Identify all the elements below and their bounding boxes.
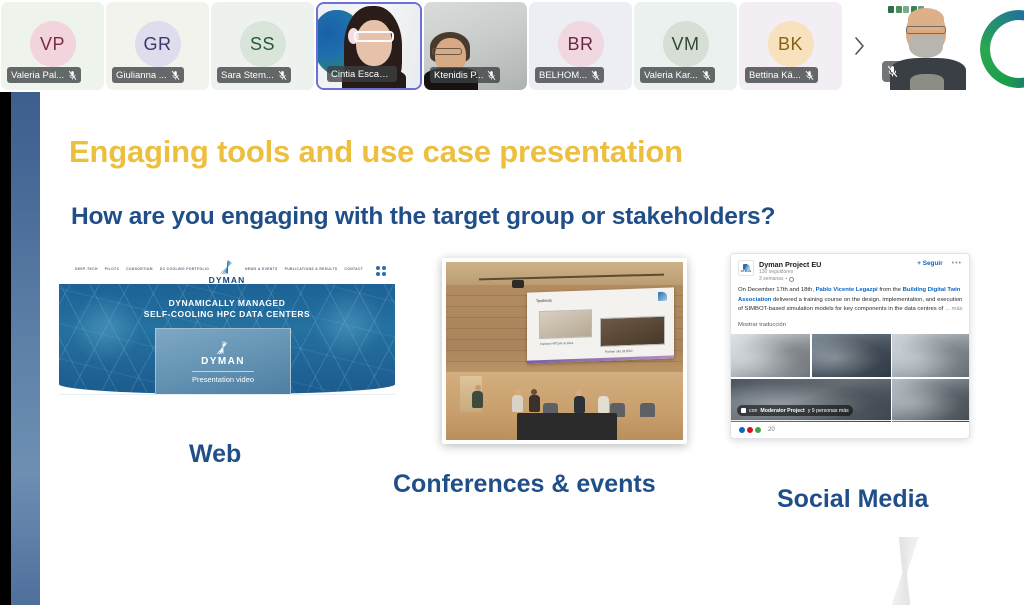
avatar-initials: VP [40,34,65,55]
avatar: SS [240,21,286,67]
nav-item: DEEP-TECH [75,267,98,271]
conference-photo: Testbeds Partner HPC/AI-at sites Partner… [442,258,687,444]
screen-title: Testbeds [535,298,551,304]
nav-item: PUBLICATIONS & RESULTS [285,267,338,271]
caption-web: Web [189,440,241,469]
participant-tile[interactable] [876,2,1024,90]
participant-tile[interactable]: Ktenidis P... [424,2,527,90]
screen-letterbox-left [0,92,11,605]
hero-line-2: SELF-COOLING HPC DATA CENTERS [59,309,395,320]
video-participant-filmstrip: VP Valeria Pal... GR Giulianna ... SS Sa… [0,0,1024,92]
tag-person-icon [741,408,746,413]
nav-item: NEWS & EVENTS [245,267,278,271]
website-footer-strip [59,394,395,410]
microphone-muted-icon [487,70,496,81]
tag-entity[interactable]: Moderator Project [760,408,804,414]
microphone-muted-icon [805,70,814,81]
participant-name-badge: Cintia Escand... [327,66,397,82]
follow-button[interactable]: + Seguir [917,260,942,278]
participant-name: Bettina Kä... [749,70,801,81]
tag-suffix: y 9 personas más [808,408,849,414]
avatar-initials: BK [778,34,803,55]
presentation-slide: Engaging tools and use case presentation… [40,92,1024,605]
microphone-muted-icon [68,70,77,81]
tag-prefix: con [749,408,757,414]
dyman-logo: DYMAN [201,260,253,285]
projection-screen: Testbeds Partner HPC/AI-at sites Partner… [527,288,674,364]
post-reactions-bar[interactable]: 20 [731,420,970,438]
post-header: DYMAN Dyman Project EU 130 seguidores 3 … [731,254,969,284]
participant-name-badge: Giulianna ... [112,67,184,83]
post-image[interactable] [892,379,970,422]
post-photo-tag[interactable]: con Moderator Project y 9 personas más [737,405,853,416]
video-caption: Presentation video [192,371,254,384]
avatar: VP [30,21,76,67]
logo-wordmark: DYMAN [741,270,752,273]
avatar: GR [135,21,181,67]
show-translation-link[interactable]: Mostrar traducción [738,322,786,328]
avatar-initials: BR [567,34,593,55]
screen-caption-right: Partner site @ BSC [604,349,632,354]
microphone-muted-icon [591,70,600,81]
reaction-love-icon [746,426,754,434]
microphone-muted-icon [887,65,898,78]
post-text-segment: On December 17th and 18th, [738,287,816,293]
laptop-screen-foreground [517,413,617,440]
caption-social-media: Social Media [777,485,928,514]
participant-tile[interactable]: VP Valeria Pal... [1,2,104,90]
participant-name-badge: Valeria Kar... [640,67,715,83]
participant-name: Valeria Pal... [11,70,64,81]
website-hero-heading: DYNAMICALLY MANAGED SELF-COOLING HPC DAT… [59,298,395,321]
participant-name-badge: Sara Stem... [217,67,291,83]
participant-tile-active-speaker[interactable]: Cintia Escand... [316,2,422,90]
slide-accent-bar [11,92,40,605]
post-more-menu-button[interactable]: ••• [952,260,962,278]
avatar-initials: SS [250,34,275,55]
microphone-muted-icon [171,70,180,81]
fan-icon [657,292,666,301]
avatar: BR [558,21,604,67]
avatar-initials: VM [672,34,700,55]
participant-tile[interactable]: VM Valeria Kar... [634,2,737,90]
post-image[interactable] [812,334,891,377]
participant-name-badge: BELHOM... [535,67,604,83]
screen-caption-left: Partner HPC/AI-at sites [540,341,573,346]
post-timestamp: 3 semanas [759,276,783,283]
website-hero-banner: DYNAMICALLY MANAGED SELF-COOLING HPC DAT… [59,284,395,394]
post-text-segment: delivered a training course on the desig… [738,297,962,313]
post-image[interactable]: con Moderator Project y 9 personas más [731,379,891,422]
post-body-text: On December 17th and 18th, Pablo Vicente… [738,286,964,315]
participant-name: Cintia Escand... [331,69,393,80]
post-followers: 130 seguidores [759,269,912,276]
linkedin-post-screenshot: DYMAN Dyman Project EU 130 seguidores 3 … [730,253,970,439]
avatar: BK [768,21,814,67]
website-nav-left: DEEP-TECH PILOTS CONSORTIUM DC COOLING P… [75,267,209,271]
post-timestamp-row: 3 semanas • [759,276,912,283]
post-author-block: Dyman Project EU 130 seguidores 3 semana… [759,260,912,278]
post-mention-link[interactable]: Pablo Vicente Legazpi [816,287,878,293]
website-navbar: DEEP-TECH PILOTS CONSORTIUM DC COOLING P… [59,258,395,284]
microphone-muted-icon [702,70,711,81]
participant-tile[interactable]: BK Bettina Kä... [739,2,842,90]
reaction-like-icon [738,426,746,434]
slide-watermark-fan-icon [820,537,992,605]
post-author-name: Dyman Project EU [759,260,912,269]
participant-name: Giulianna ... [116,70,167,81]
caption-conferences: Conferences & events [393,470,656,499]
social-links-icon [376,266,386,276]
fan-icon [220,260,235,274]
conference-photo-content: Testbeds Partner HPC/AI-at sites Partner… [446,262,683,440]
see-more-link[interactable]: ... más [945,306,963,312]
slide-subtitle: How are you engaging with the target gro… [71,203,775,231]
nav-item: CONTACT [344,267,363,271]
participant-name-badge: Valeria Pal... [7,67,81,83]
participant-name: Ktenidis P... [434,70,483,81]
nav-item: CONSORTIUM [126,267,153,271]
participant-tile[interactable]: GR Giulianna ... [106,2,209,90]
shared-screen-area: Engaging tools and use case presentation… [0,92,1024,605]
reaction-count: 20 [768,427,775,433]
video-brand: DYMAN [201,356,245,367]
post-text-segment: from the [878,287,903,293]
avatar: VM [663,21,709,67]
post-image[interactable] [731,334,810,377]
website-video-card: DYMAN Presentation video [155,328,291,396]
microphone-muted-icon [278,70,287,81]
slide-title: Engaging tools and use case presentation [69,134,683,170]
avatar-initials: GR [144,34,172,55]
reaction-celebrate-icon [754,426,762,434]
participant-name: Valeria Kar... [644,70,698,81]
participant-tile[interactable]: SS Sara Stem... [211,2,314,90]
globe-icon [789,277,794,282]
participant-name-badge: Ktenidis P... [430,67,500,83]
participant-mute-indicator [882,61,903,82]
fan-icon [216,341,230,354]
dyman-avatar-logo: DYMAN [738,260,754,276]
filmstrip-next-page-button[interactable] [845,2,873,90]
projector [512,280,524,288]
post-image-grid[interactable]: con Moderator Project y 9 personas más [731,334,970,422]
participant-name-badge: Bettina Kä... [745,67,818,83]
participant-tile[interactable]: BR BELHOM... [529,2,632,90]
web-screenshot-image: DEEP-TECH PILOTS CONSORTIUM DC COOLING P… [59,258,395,410]
post-image[interactable] [892,334,970,377]
hero-line-1: DYNAMICALLY MANAGED [59,298,395,309]
participant-name: Sara Stem... [221,70,274,81]
website-nav-right: NEWS & EVENTS PUBLICATIONS & RESULTS CON… [245,267,363,271]
nav-item: PILOTS [105,267,119,271]
participant-name: BELHOM... [539,70,587,81]
chevron-right-icon [853,36,866,56]
